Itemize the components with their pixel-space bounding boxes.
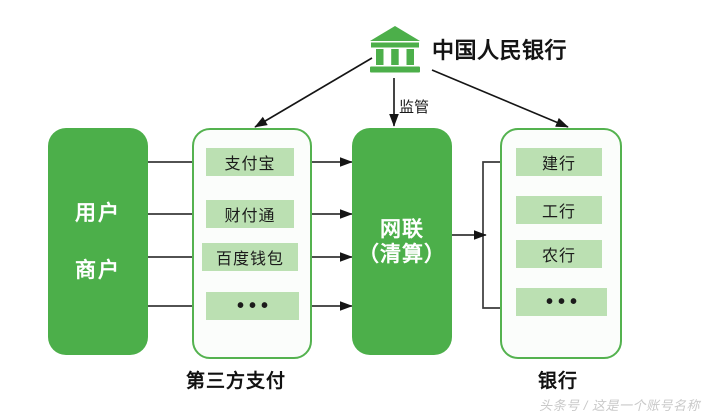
clearing-name-label: 网联 <box>380 219 424 240</box>
edge-pboc-to-thirdparty <box>255 58 372 127</box>
diagram-canvas: 中国人民银行 监管 用户 商户 支付宝 财付通 百度钱包 ••• 第三方支付 网… <box>0 0 708 418</box>
third-party-item-baidu-wallet[interactable]: 百度钱包 <box>202 243 298 271</box>
third-party-caption: 第三方支付 <box>186 366 286 393</box>
clearing-network-box[interactable]: 网联 （清算） <box>352 128 452 355</box>
bank-building-icon <box>368 24 422 74</box>
bank-item-ccb[interactable]: 建行 <box>516 148 602 176</box>
clearing-sub-label: （清算） <box>358 244 446 265</box>
regulator-node: 中国人民银行 <box>368 24 567 74</box>
regulator-label: 中国人民银行 <box>432 33 567 65</box>
third-party-item-more[interactable]: ••• <box>206 292 299 320</box>
banks-caption: 银行 <box>538 366 578 393</box>
third-party-item-tenpay[interactable]: 财付通 <box>206 200 294 228</box>
edge-label-supervise: 监管 <box>399 96 429 117</box>
merchants-label: 商户 <box>75 260 121 281</box>
bank-item-abc[interactable]: 农行 <box>516 240 602 268</box>
bank-item-icbc[interactable]: 工行 <box>516 196 602 224</box>
bank-item-more[interactable]: ••• <box>516 288 607 316</box>
edge-pboc-to-banks <box>432 70 568 127</box>
users-label: 用户 <box>75 203 121 224</box>
third-party-item-alipay[interactable]: 支付宝 <box>206 148 294 176</box>
watermark-text: 头条号 / 这是一个账号名称 <box>539 395 700 414</box>
users-merchants-box[interactable]: 用户 商户 <box>48 128 148 355</box>
